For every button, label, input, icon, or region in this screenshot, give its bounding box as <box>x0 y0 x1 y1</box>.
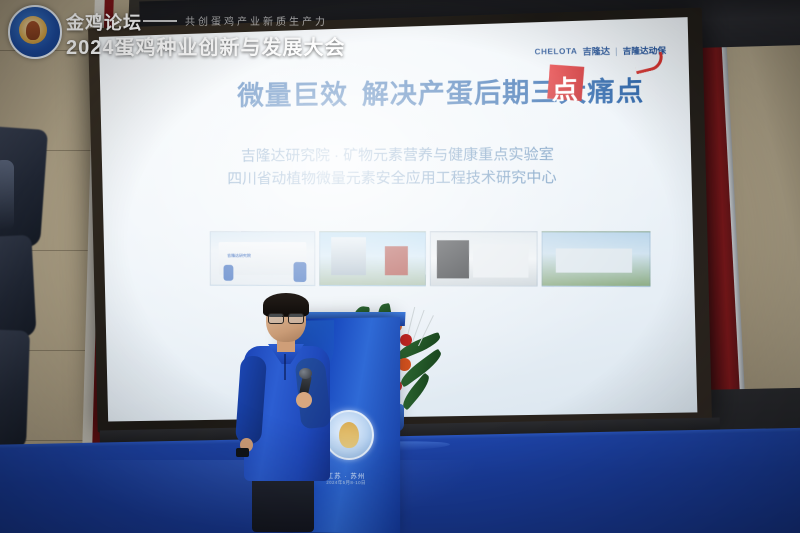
handheld-clicker <box>236 448 249 457</box>
photo-aerial-plant <box>542 231 651 287</box>
flower-bloom <box>400 334 412 346</box>
eyeglasses-bridge <box>282 316 288 317</box>
brand-separator: | <box>615 46 617 56</box>
presenter-right-hand <box>296 392 312 408</box>
mascot-figure <box>293 262 306 282</box>
title-accent-char: 点 <box>552 70 579 108</box>
photo-factory <box>430 231 538 286</box>
slide-subtitle: 吉隆达研究院 · 矿物元素营养与健康重点实验室 四川省动植物微量元素安全应用工程… <box>227 143 658 191</box>
hanging-cloth <box>0 235 37 340</box>
cloth-highlight <box>0 160 14 230</box>
slide-title-part2: 解决产蛋后期三大痛点 <box>362 76 645 109</box>
presenter-shirt-placket <box>284 354 286 380</box>
photo-research-institute: 吉隆达研究院 <box>210 231 316 286</box>
conference-photo: 微量巨效解决产蛋后期三大痛点 CHELOTA 吉隆达 | 吉隆达动保 吉隆达研究… <box>0 0 800 533</box>
brand-cn-text: 吉隆达 <box>582 44 610 58</box>
presenter-legs <box>252 472 314 532</box>
eyeglasses-icon <box>268 313 304 322</box>
microphone-head-icon <box>299 368 312 379</box>
hanging-cloth <box>0 329 30 451</box>
slide-photo-strip: 吉隆达研究院 <box>210 231 651 287</box>
subtitle-line-2: 四川省动植物微量元素安全应用工程技术研究中心 <box>227 166 658 191</box>
slide-title-part1: 微量巨效 <box>237 80 348 111</box>
mascot-figure <box>223 265 233 281</box>
photo-caption: 吉隆达研究院 <box>227 253 251 259</box>
presenter-figure <box>238 296 334 516</box>
photo-office-campus <box>319 231 426 286</box>
subtitle-line-1: 吉隆达研究院 · 矿物元素营养与健康重点实验室 <box>227 143 658 168</box>
brand-en-text: CHELOTA <box>534 47 577 57</box>
